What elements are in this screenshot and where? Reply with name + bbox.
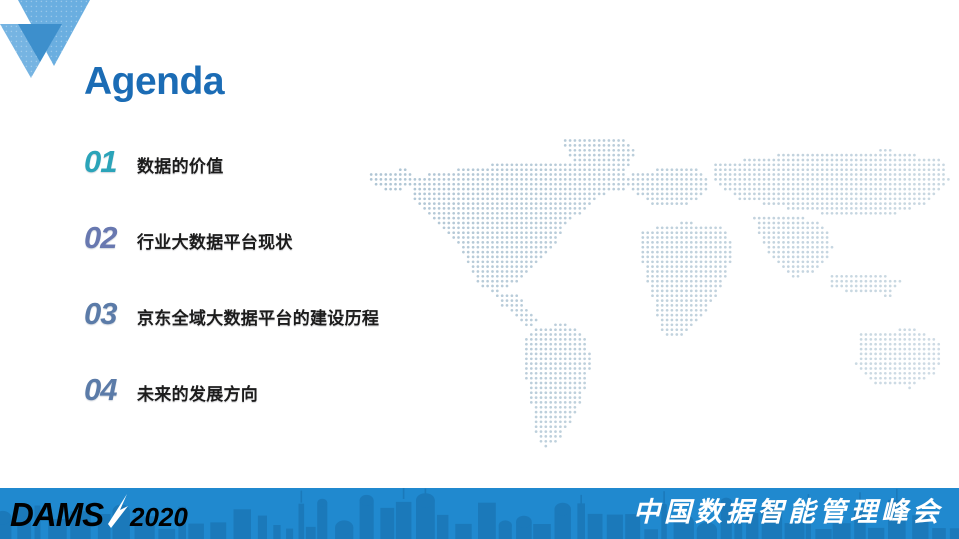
summit-name: 中国数据智能管理峰会 (633, 495, 943, 530)
agenda-number: 04 (84, 374, 137, 405)
agenda-item-02[interactable]: 02 行业大数据平台现状 (84, 222, 644, 298)
agenda-label: 京东全域大数据平台的建设历程 (137, 310, 379, 327)
agenda-item-01[interactable]: 01 数据的价值 (84, 146, 644, 222)
slide-canvas: Agenda 01 数据的价值 02 行业大数据平台现状 03 京东全域大数据平… (0, 0, 959, 539)
agenda-number: 03 (84, 298, 137, 329)
dams-wordmark: DAMS (10, 496, 104, 533)
triangle-logo (0, 0, 90, 78)
agenda-number: 01 (84, 146, 137, 177)
agenda-label: 未来的发展方向 (137, 386, 258, 403)
agenda-label: 行业大数据平台现状 (137, 234, 293, 251)
agenda-number: 02 (84, 222, 137, 253)
agenda-item-04[interactable]: 04 未来的发展方向 (84, 374, 644, 450)
year-label: 2020 (129, 502, 188, 532)
page-title: Agenda (84, 62, 224, 101)
agenda-label: 数据的价值 (137, 158, 224, 175)
agenda-item-03[interactable]: 03 京东全域大数据平台的建设历程 (84, 298, 644, 374)
agenda-list: 01 数据的价值 02 行业大数据平台现状 03 京东全域大数据平台的建设历程 … (84, 146, 644, 450)
dams-brand-logo: DAMS 2020 (8, 492, 218, 536)
bottom-banner: DAMS 2020 中国数据智能管理峰会 (0, 488, 959, 539)
